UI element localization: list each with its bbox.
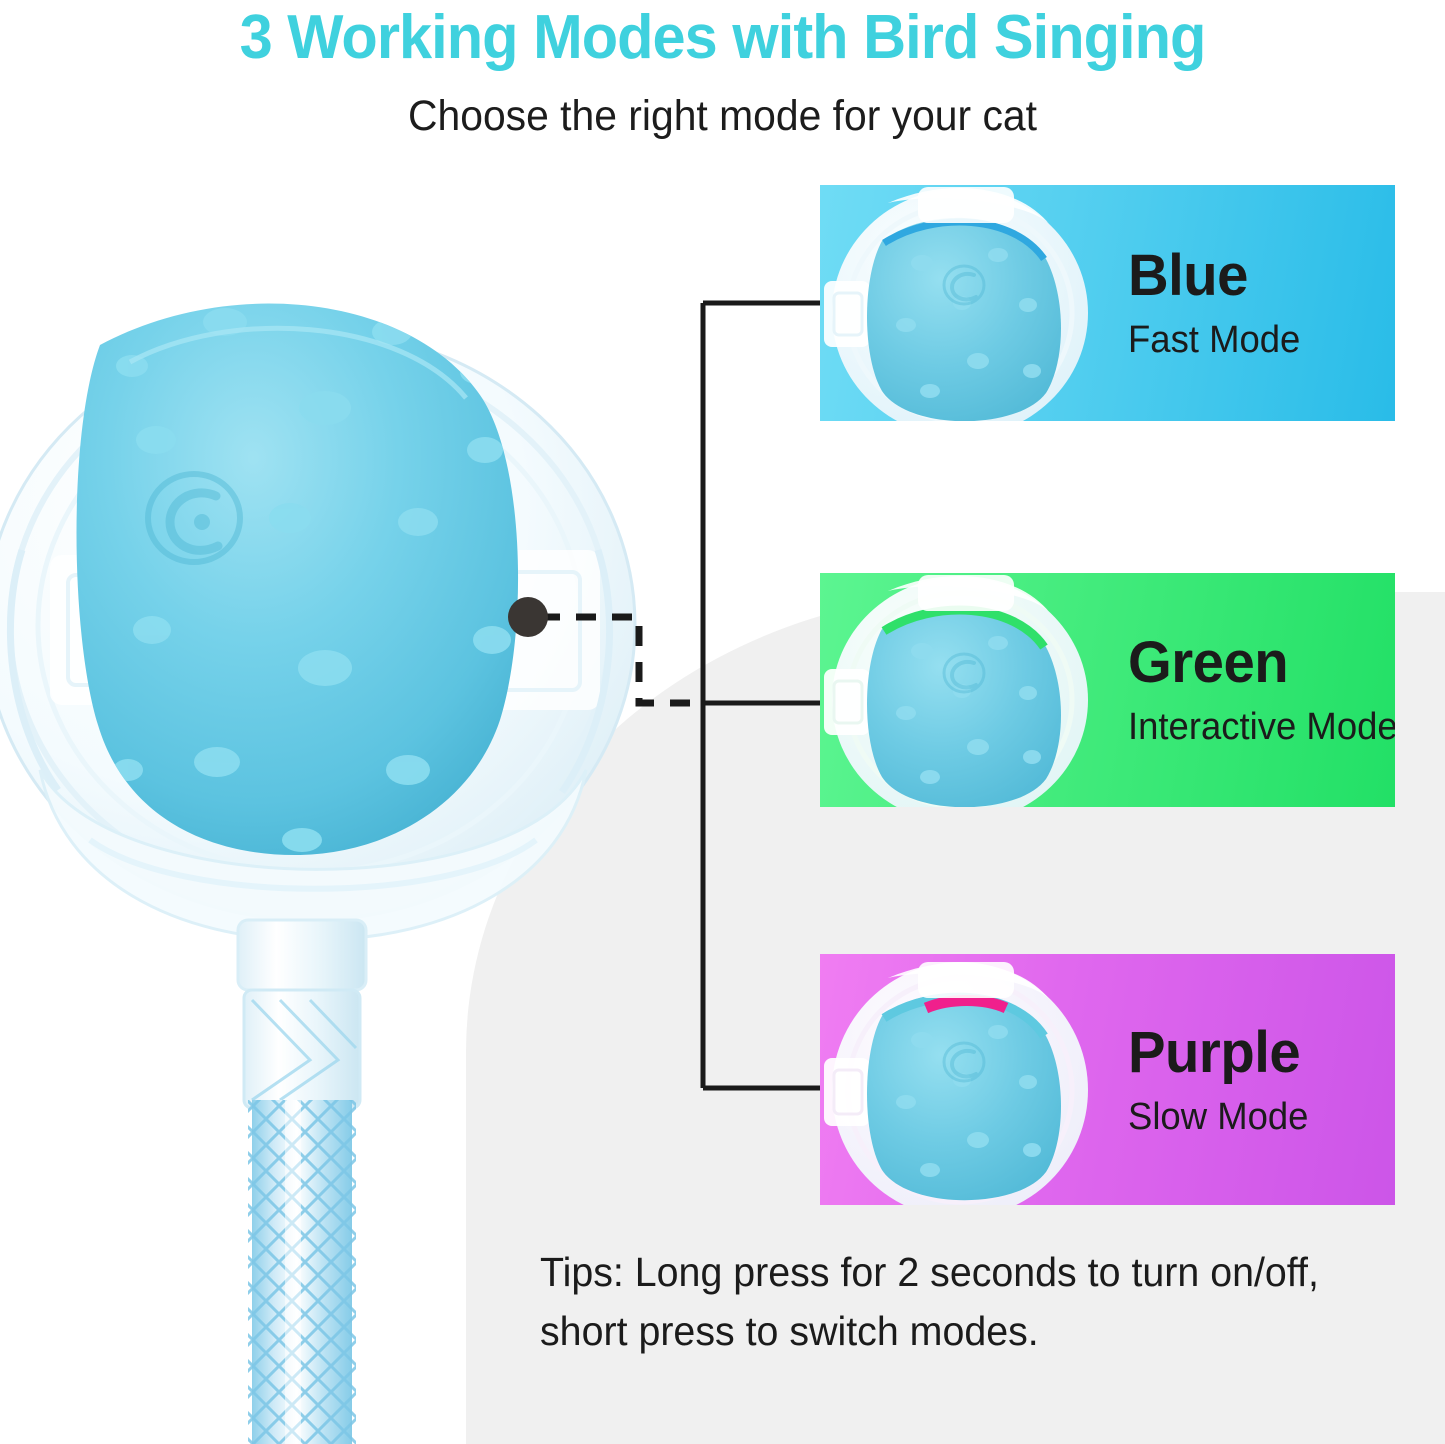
mode-name-purple: Purple <box>1128 1024 1310 1082</box>
mode-desc-purple: Slow Mode <box>1128 1098 1308 1136</box>
mode-card-blue-text: Blue Fast Mode <box>1128 185 1308 421</box>
infographic-root: 3 Working Modes with Bird Singing Choose… <box>0 0 1445 1444</box>
page-title: 3 Working Modes with Bird Singing <box>29 2 1416 73</box>
product-braided-tube <box>248 1100 356 1444</box>
mode-card-purple-text: Purple Slow Mode <box>1128 954 1316 1205</box>
product-blue-ball <box>77 304 519 855</box>
mode-card-green-text: Green Interactive Mode <box>1128 573 1395 807</box>
mini-product-blue <box>820 185 1118 421</box>
mode-name-green: Green <box>1128 634 1395 692</box>
mini-product-purple <box>820 954 1118 1205</box>
mode-desc-green: Interactive Mode <box>1128 708 1395 746</box>
mini-product-green <box>820 573 1118 807</box>
mode-desc-blue: Fast Mode <box>1128 321 1300 359</box>
product-collar <box>238 920 366 1108</box>
page-subtitle: Choose the right mode for your cat <box>36 92 1409 141</box>
mode-name-blue: Blue <box>1128 247 1302 305</box>
button-marker-dot <box>500 590 560 650</box>
mode-card-blue[interactable]: Blue Fast Mode <box>820 185 1395 421</box>
tips-text: Tips: Long press for 2 seconds to turn o… <box>540 1243 1385 1362</box>
mode-card-green[interactable]: Green Interactive Mode <box>820 573 1395 807</box>
mode-card-purple[interactable]: Purple Slow Mode <box>820 954 1395 1205</box>
